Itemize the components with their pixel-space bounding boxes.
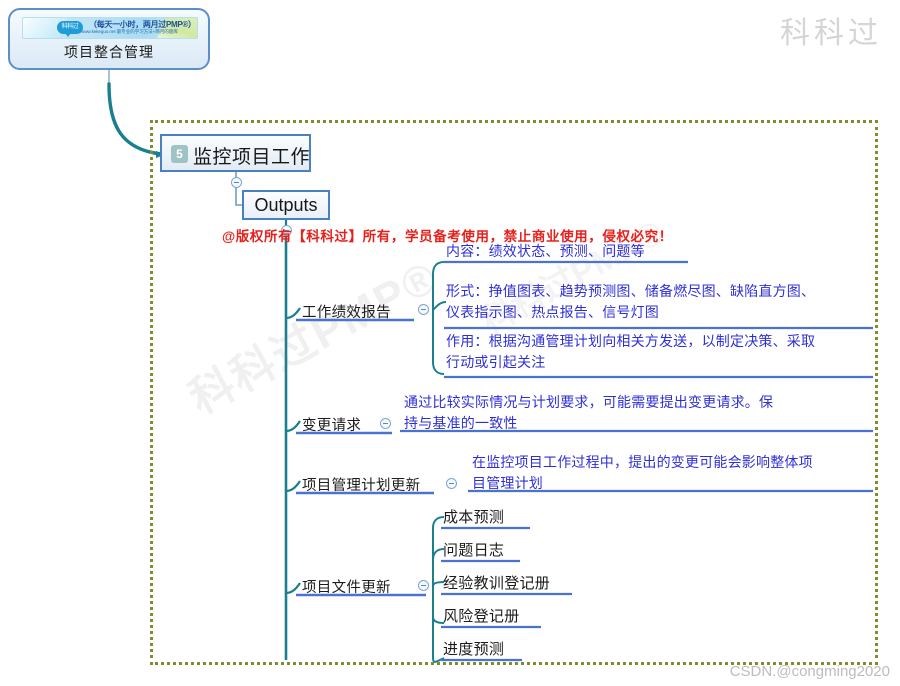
detail-line: 仪表指示图、热点报告、信号灯图	[446, 302, 870, 323]
topic-node-label: 监控项目工作	[193, 142, 310, 169]
leaf-issue-log[interactable]: 问题日志	[443, 539, 504, 560]
detail-line: 目管理计划	[472, 473, 872, 494]
branch-label-pm-plan-updates[interactable]: 项目管理计划更新	[302, 474, 420, 495]
brand-subtext: www.kekeguo.net 最专业的学习方法+两月的题库	[81, 29, 178, 35]
detail-pm-plan-updates: 在监控项目工作过程中，提出的变更可能会影响整体项 目管理计划	[472, 452, 872, 494]
detail-line: 行动或引起关注	[446, 352, 870, 373]
toggle-pm-plan-updates[interactable]	[446, 478, 457, 489]
detail-line: 作用：根据沟通管理计划向相关方发送，以制定决策、采取	[446, 331, 870, 352]
root-node-title: 项目整合管理	[10, 42, 208, 62]
toggle-change-requests[interactable]	[380, 418, 391, 429]
brand-badge: 科科过	[57, 21, 83, 34]
detail-line: 在监控项目工作过程中，提出的变更可能会影响整体项	[472, 452, 872, 473]
leaf-schedule-forecast[interactable]: 进度预测	[443, 638, 504, 659]
toggle-work-performance-report[interactable]	[418, 304, 429, 315]
outputs-node[interactable]: Outputs	[242, 190, 330, 220]
detail-line: 通过比较实际情况与计划要求，可能需要提出变更请求。保	[404, 392, 868, 413]
toggle-topic-node[interactable]	[231, 177, 242, 188]
branch-label-work-performance-report[interactable]: 工作绩效报告	[302, 301, 391, 322]
root-node[interactable]: 科科过 （每天一小时，两月过PMP®） www.kekeguo.net 最专业的…	[8, 8, 210, 70]
branch-label-project-document-updates[interactable]: 项目文件更新	[302, 576, 391, 597]
topic-node-monitor-control-project-work[interactable]: 5 监控项目工作	[160, 134, 311, 172]
outputs-node-label: Outputs	[244, 195, 328, 216]
branch-label-change-requests[interactable]: 变更请求	[302, 414, 361, 435]
mindmap-canvas: 科科过PMP® 科科过PMP® 科科过 （每天一小时，两月过PMP®） www.…	[0, 0, 900, 686]
leaf-lessons-learned-register[interactable]: 经验教训登记册	[443, 572, 550, 593]
leaf-risk-register[interactable]: 风险登记册	[443, 605, 520, 626]
detail-line: 持与基准的一致性	[404, 413, 868, 434]
leaf-cost-forecast[interactable]: 成本预测	[443, 506, 504, 527]
brand-banner: 科科过 （每天一小时，两月过PMP®） www.kekeguo.net 最专业的…	[22, 17, 198, 39]
detail-wpr-purpose: 作用：根据沟通管理计划向相关方发送，以制定决策、采取 行动或引起关注	[446, 331, 870, 373]
detail-line: 内容：绩效状态、预测、问题等	[446, 241, 866, 262]
detail-line: 形式：挣值图表、趋势预测图、储备燃尽图、缺陷直方图、	[446, 281, 870, 302]
toggle-project-document-updates[interactable]	[418, 580, 429, 591]
detail-change-requests: 通过比较实际情况与计划要求，可能需要提出变更请求。保 持与基准的一致性	[404, 392, 868, 434]
detail-wpr-form: 形式：挣值图表、趋势预测图、储备燃尽图、缺陷直方图、 仪表指示图、热点报告、信号…	[446, 281, 870, 323]
watermark-top-right: 科科过	[780, 8, 882, 52]
topic-number-badge: 5	[171, 145, 188, 163]
detail-wpr-content: 内容：绩效状态、预测、问题等	[446, 241, 866, 262]
watermark-bottom-right: CSDN.@congming2020	[730, 663, 890, 680]
